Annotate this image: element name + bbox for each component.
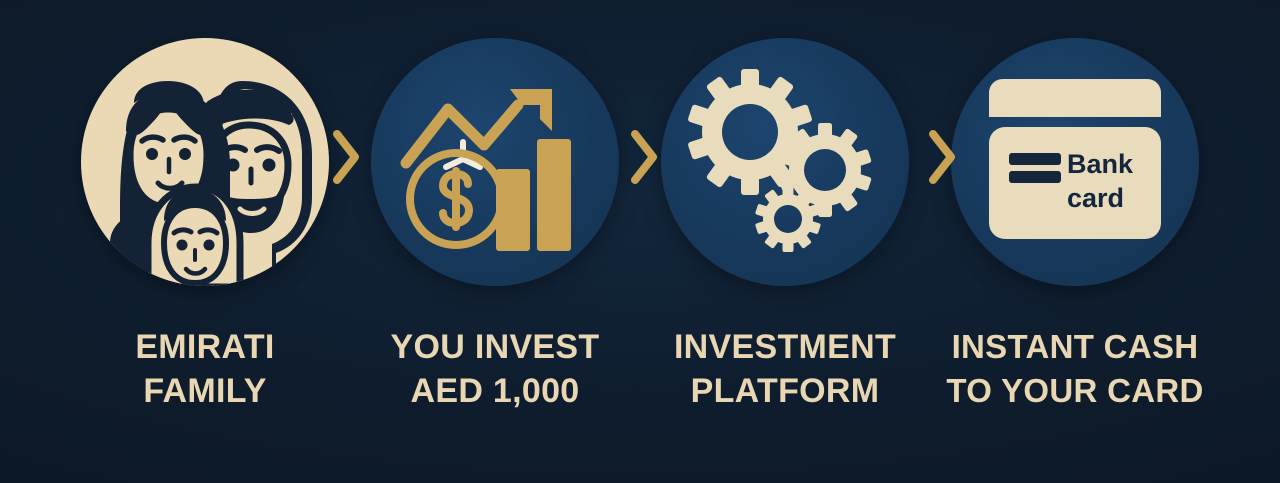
step-emirati-family[interactable]: EMIRATI FAMILY — [60, 0, 350, 483]
step-1-circle — [81, 38, 329, 286]
step-4-label: INSTANT CASH TO YOUR CARD — [930, 325, 1220, 413]
chevron-right-icon-1 — [333, 130, 359, 184]
step-4-circle: Bank card — [951, 38, 1199, 286]
gears-icon — [685, 67, 885, 257]
investment-growth-icon — [400, 67, 590, 257]
step-you-invest[interactable]: YOU INVEST AED 1,000 — [350, 0, 640, 483]
step-2-circle — [371, 38, 619, 286]
bank-card-icon: Bank card — [975, 77, 1175, 247]
step-3-circle — [661, 38, 909, 286]
family-icon — [90, 47, 320, 277]
chevron-right-icon-3 — [929, 130, 955, 184]
infographic-canvas: EMIRATI FAMILY — [0, 0, 1280, 483]
steps-row: EMIRATI FAMILY — [0, 0, 1280, 483]
chevron-right-icon-2 — [631, 130, 657, 184]
step-investment-platform[interactable]: INVESTMENT PLATFORM — [640, 0, 930, 483]
step-2-label: YOU INVEST AED 1,000 — [350, 325, 640, 413]
step-1-label: EMIRATI FAMILY — [60, 325, 350, 413]
step-3-label: INVESTMENT PLATFORM — [640, 325, 930, 413]
step-instant-cash[interactable]: Bank card INSTANT CASH TO YOUR CARD — [930, 0, 1220, 483]
card-line-2: card — [1067, 183, 1124, 213]
card-line-1: Bank — [1067, 149, 1134, 179]
